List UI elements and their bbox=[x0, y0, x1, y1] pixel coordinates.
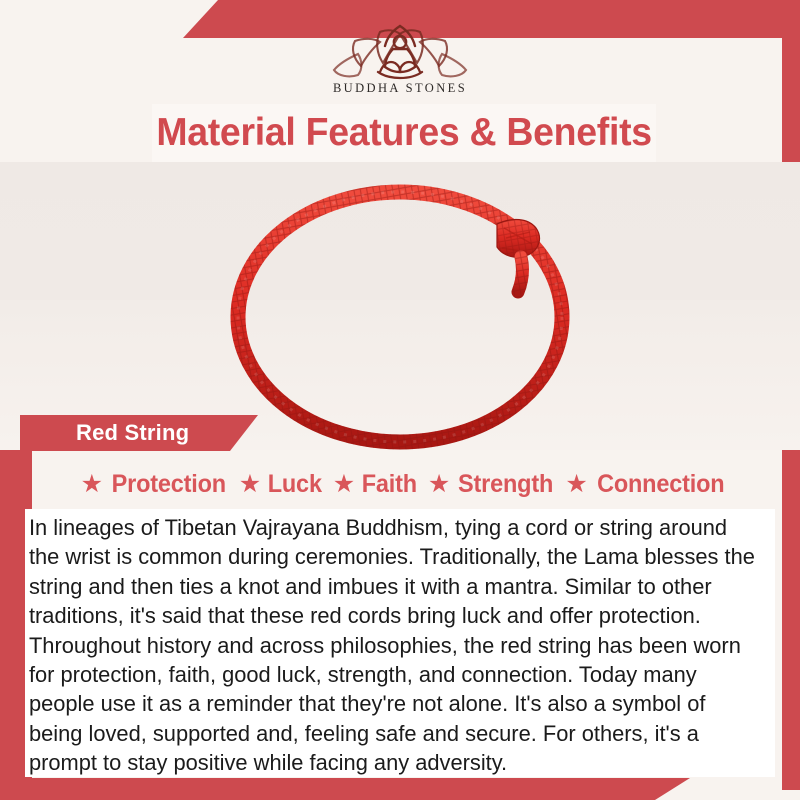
star-icon: ★ bbox=[81, 472, 103, 497]
feature-item-connection: ★ Connection bbox=[556, 470, 728, 499]
feature-label: Connection bbox=[597, 470, 724, 499]
page-title: Material Features & Benefits bbox=[156, 111, 651, 155]
star-icon: ★ bbox=[565, 472, 587, 497]
feature-item-luck: ★ Luck bbox=[230, 470, 324, 499]
red-string-bracelet-image bbox=[0, 162, 800, 452]
title-banner: Material Features & Benefits bbox=[152, 104, 656, 162]
feature-label: Faith bbox=[362, 470, 417, 499]
feature-label: Protection bbox=[112, 470, 226, 499]
star-icon: ★ bbox=[239, 472, 261, 497]
brand-name: BUDDHA STONES bbox=[333, 81, 467, 96]
star-icon: ★ bbox=[333, 472, 355, 497]
feature-label: Strength bbox=[458, 470, 553, 499]
description-panel: In lineages of Tibetan Vajrayana Buddhis… bbox=[25, 509, 775, 777]
feature-item-protection: ★ Protection bbox=[72, 470, 230, 499]
red-string-ribbon: Red String bbox=[20, 415, 258, 451]
poster-canvas: BUDDHA STONES Material Features & Benefi… bbox=[0, 0, 800, 800]
feature-label: Luck bbox=[268, 470, 322, 499]
brand-logo: BUDDHA STONES bbox=[0, 14, 800, 104]
feature-item-faith: ★ Faith bbox=[324, 470, 419, 499]
feature-list: ★ Protection ★ Luck ★ Faith ★ Strength ★… bbox=[0, 462, 800, 506]
star-icon: ★ bbox=[428, 472, 450, 497]
bottom-red-bar-decoration bbox=[0, 778, 800, 800]
ribbon-label: Red String bbox=[76, 420, 189, 446]
feature-item-strength: ★ Strength bbox=[419, 470, 557, 499]
lotus-meditation-icon bbox=[325, 14, 475, 80]
description-text: In lineages of Tibetan Vajrayana Buddhis… bbox=[25, 509, 764, 778]
